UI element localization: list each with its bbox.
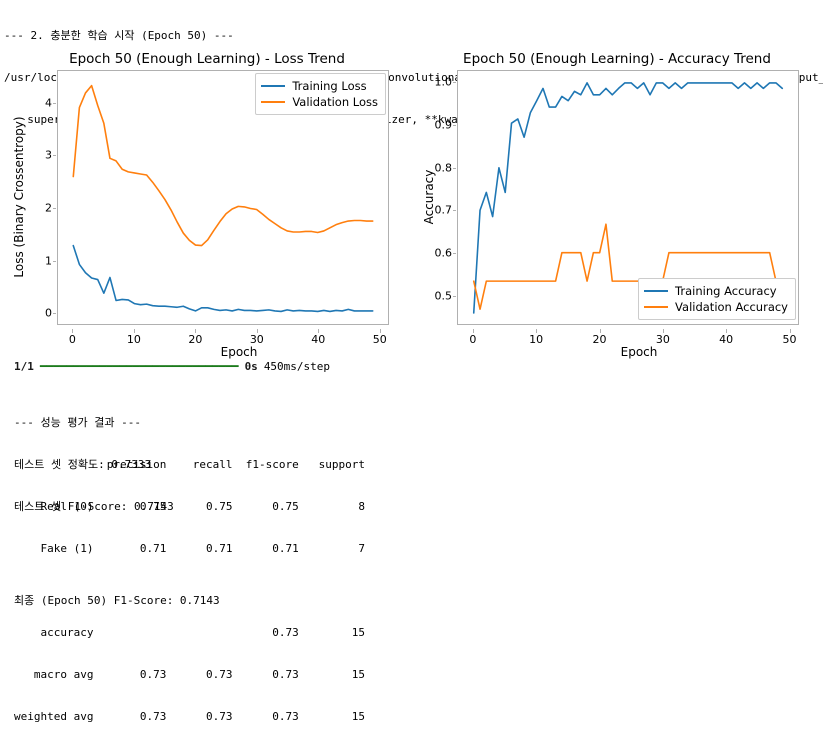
accuracy-chart-legend: Training Accuracy Validation Accuracy: [638, 278, 796, 320]
y-tick-mark: [453, 125, 457, 126]
training-loss-label: Training Loss: [292, 78, 366, 94]
loss-x-ticks: 01020304050: [57, 329, 389, 345]
x-tick-mark: [600, 329, 601, 333]
loss-chart: Epoch 50 (Enough Learning) - Loss Trend …: [2, 48, 412, 358]
y-tick-mark: [53, 313, 57, 314]
x-tick-mark: [195, 329, 196, 333]
table-row: accuracy 0.73 15: [14, 626, 365, 640]
table-row: Fake (1) 0.71 0.71 0.71 7: [14, 542, 365, 556]
table-row: Real (0) 0.75 0.75 0.75 8: [14, 500, 365, 514]
accuracy-y-axis-label: Accuracy: [422, 117, 436, 277]
y-tick-mark: [53, 261, 57, 262]
y-tick-mark: [453, 296, 457, 297]
x-tick-mark: [257, 329, 258, 333]
accuracy-x-axis-label: Epoch: [412, 345, 823, 359]
y-tick-label: 0.8: [435, 161, 453, 174]
y-tick-label: 3: [45, 149, 52, 162]
legend-item-validation-loss: Validation Loss: [261, 94, 378, 110]
y-tick-label: 1: [45, 254, 52, 267]
accuracy-chart: Epoch 50 (Enough Learning) - Accuracy Tr…: [412, 48, 822, 358]
validation-accuracy-label: Validation Accuracy: [675, 299, 788, 315]
y-tick-label: 0.6: [435, 247, 453, 260]
x-tick-mark: [318, 329, 319, 333]
table-row: macro avg 0.73 0.73 0.73 15: [14, 668, 365, 682]
x-tick-mark: [790, 329, 791, 333]
y-tick-label: 4: [45, 96, 52, 109]
validation-accuracy-swatch: [644, 306, 668, 308]
validation-loss-swatch: [261, 101, 285, 103]
y-tick-mark: [53, 208, 57, 209]
x-tick-mark: [134, 329, 135, 333]
section-header-line: --- 2. 충분한 학습 시작 (Epoch 50) ---: [4, 29, 823, 43]
x-tick-mark: [536, 329, 537, 333]
loss-y-axis-label: Loss (Binary Crossentropy): [12, 107, 26, 287]
legend-item-validation-accuracy: Validation Accuracy: [644, 299, 788, 315]
progress-per-step: 450ms/step: [264, 360, 330, 374]
training-accuracy-swatch: [644, 290, 668, 292]
x-tick-mark: [663, 329, 664, 333]
x-tick-mark: [380, 329, 381, 333]
progress-elapsed: 0s: [245, 360, 258, 374]
keras-progress-line: 1/1 ━━━━━━━━━━━━━━━━━━━━━━━━━━━━━━ 0s 45…: [14, 360, 330, 374]
y-tick-mark: [53, 155, 57, 156]
y-tick-label: 0.9: [435, 118, 453, 131]
accuracy-chart-title: Epoch 50 (Enough Learning) - Accuracy Tr…: [412, 51, 822, 67]
y-tick-label: 1.0: [435, 75, 453, 88]
accuracy-x-ticks: 01020304050: [457, 329, 799, 345]
x-tick-mark: [473, 329, 474, 333]
matplotlib-figure: Epoch 50 (Enough Learning) - Loss Trend …: [0, 48, 823, 358]
training-loss-swatch: [261, 85, 285, 87]
report-header-row: precision recall f1-score support: [14, 458, 365, 472]
loss-chart-legend: Training Loss Validation Loss: [255, 73, 386, 115]
loss-x-axis-label: Epoch: [2, 345, 444, 359]
progress-bar: ━━━━━━━━━━━━━━━━━━━━━━━━━━━━━━: [40, 360, 239, 374]
results-header: --- 성능 평가 결과 ---: [14, 416, 174, 430]
training-accuracy-label: Training Accuracy: [675, 283, 777, 299]
table-row: weighted avg 0.73 0.73 0.73 15: [14, 710, 365, 724]
validation-loss-label: Validation Loss: [292, 94, 378, 110]
y-tick-mark: [453, 82, 457, 83]
y-tick-label: 0.5: [435, 289, 453, 302]
y-tick-mark: [453, 253, 457, 254]
y-tick-label: 0: [45, 307, 52, 320]
y-tick-mark: [453, 210, 457, 211]
x-tick-mark: [72, 329, 73, 333]
y-tick-mark: [53, 103, 57, 104]
final-score-line: 최종 (Epoch 50) F1-Score: 0.7143: [14, 594, 220, 608]
training-loss-line: [73, 246, 372, 312]
y-tick-label: 2: [45, 202, 52, 215]
legend-item-training-loss: Training Loss: [261, 78, 378, 94]
y-tick-mark: [453, 168, 457, 169]
legend-item-training-accuracy: Training Accuracy: [644, 283, 788, 299]
loss-chart-title: Epoch 50 (Enough Learning) - Loss Trend: [2, 51, 412, 67]
progress-count: 1/1: [14, 360, 34, 374]
x-tick-mark: [726, 329, 727, 333]
y-tick-label: 0.7: [435, 204, 453, 217]
final-f1-result: 최종 (Epoch 50) F1-Score: 0.7143: [14, 566, 220, 622]
